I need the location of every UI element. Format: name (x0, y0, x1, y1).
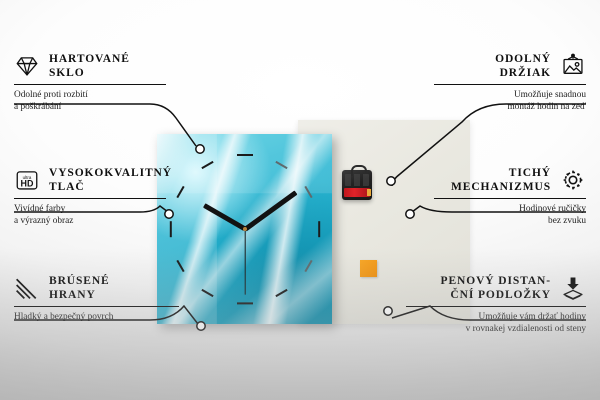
feature-title: PENOVÝ DISTAN- ČNÍ PODLOŽKY (441, 274, 551, 302)
clock-tick (237, 154, 253, 156)
feature-subtitle: Hladký a bezpečný povrch (14, 311, 179, 323)
movement-vents (345, 174, 369, 186)
feature-subtitle: Umožňuje vám držať hodiny v rovnakej vzd… (406, 311, 586, 336)
svg-text:HD: HD (21, 179, 34, 189)
feature-durable-hanger[interactable]: ODOLNÝ DRŽIAK Umožňuje snadnou montáž ho… (434, 52, 586, 114)
feature-head: PENOVÝ DISTAN- ČNÍ PODLOŽKY (406, 274, 586, 302)
feature-foam-spacers[interactable]: PENOVÝ DISTAN- ČNÍ PODLOŽKY Umožňuje vám… (406, 274, 586, 336)
feature-title: VYSOKOKVALITNÝ TLAČ (49, 166, 172, 194)
feature-subtitle: Umožňuje snadnou montáž hodin na zeď (434, 89, 586, 114)
feature-head: ODOLNÝ DRŽIAK (434, 52, 586, 80)
feature-head: BRÚSENÉ HRANY (14, 274, 179, 302)
feature-tempered-glass[interactable]: HARTOVANÉ SKLO Odolné proti rozbití a po… (14, 52, 166, 114)
feature-title: HARTOVANÉ SKLO (49, 52, 130, 80)
feature-title: ODOLNÝ DRŽIAK (495, 52, 551, 80)
feature-divider (14, 198, 166, 199)
clock-movement (342, 170, 372, 200)
feature-title: TICHÝ MECHANIZMUS (451, 166, 551, 194)
diamond-icon (14, 53, 40, 79)
glass-wall-clock (157, 134, 332, 324)
feature-divider (14, 84, 166, 85)
foam-spacer-pad (360, 260, 377, 277)
clock-tick (317, 221, 319, 237)
clock-tick (169, 221, 171, 237)
second-hand (244, 229, 245, 295)
clock-tick (237, 302, 253, 304)
picture-hanger-icon (560, 53, 586, 79)
product-feature-infographic: HARTOVANÉ SKLO Odolné proti rozbití a po… (0, 0, 600, 400)
feature-title: BRÚSENÉ HRANY (49, 274, 110, 302)
feature-high-quality-print[interactable]: ultra HD VYSOKOKVALITNÝ TLAČ Vivídné far… (14, 166, 166, 228)
beveled-edge-icon (14, 275, 40, 301)
feature-head: TICHÝ MECHANIZMUS (434, 166, 586, 194)
battery (344, 188, 370, 197)
ultra-hd-badge-icon: ultra HD (14, 167, 40, 193)
feature-divider (434, 84, 586, 85)
feature-silent-mechanism[interactable]: TICHÝ MECHANIZMUS Hodinové ručičky bez z… (434, 166, 586, 228)
feature-head: ultra HD VYSOKOKVALITNÝ TLAČ (14, 166, 166, 194)
feature-head: HARTOVANÉ SKLO (14, 52, 166, 80)
feature-divider (434, 198, 586, 199)
feature-ground-edges[interactable]: BRÚSENÉ HRANY Hladký a bezpečný povrch (14, 274, 179, 323)
gear-icon (560, 167, 586, 193)
feature-subtitle: Hodinové ručičky bez zvuku (434, 203, 586, 228)
feature-divider (406, 306, 586, 307)
press-layers-icon (560, 275, 586, 301)
feature-divider (14, 306, 179, 307)
feature-subtitle: Odolné proti rozbití a poškrábání (14, 89, 166, 114)
clock-pivot (243, 227, 247, 231)
feature-subtitle: Vivídné farby a výrazný obraz (14, 203, 166, 228)
